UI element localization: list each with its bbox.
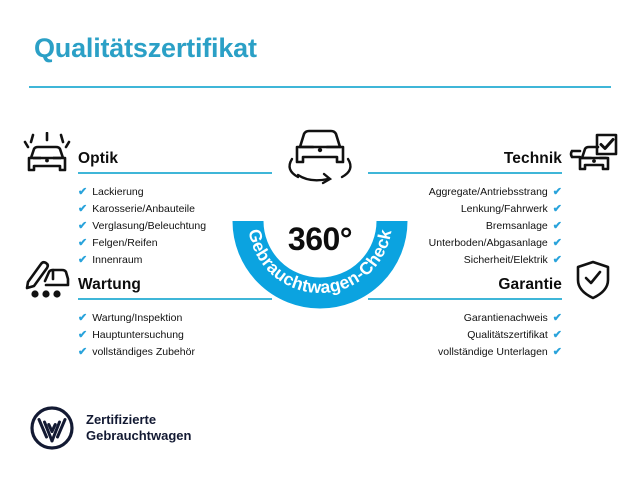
check-icon: ✔ (78, 330, 87, 341)
list-item-label: Felgen/Reifen (92, 235, 157, 252)
list-item: ✔vollständiges Zubehör (78, 344, 272, 361)
list-item-label: vollständiges Zubehör (92, 344, 195, 361)
check-icon: ✔ (78, 313, 87, 324)
check-icon: ✔ (553, 238, 562, 249)
check-icon: ✔ (78, 238, 87, 249)
section-title: Optik (78, 150, 118, 168)
list-item: Qualitätszertifikat✔ (368, 327, 562, 344)
footer-logo-block: Zertifizierte Gebrauchtwagen (30, 406, 191, 450)
list-item-label: Wartung/Inspektion (92, 310, 182, 327)
checklist: Garantienachweis✔ Qualitätszertifikat✔ v… (368, 310, 618, 361)
list-item: ✔Hauptuntersuchung (78, 327, 272, 344)
list-item-label: Hauptuntersuchung (92, 327, 184, 344)
pen-car-service-icon (22, 258, 72, 302)
list-item-label: Lackierung (92, 184, 143, 201)
check-icon: ✔ (78, 204, 87, 215)
header-divider (29, 86, 611, 88)
list-item-label: Bremsanlage (486, 218, 548, 235)
list-item-label: Garantienachweis (464, 310, 548, 327)
car-rotate-icon (290, 131, 351, 183)
list-item-label: Aggregate/Antriebsstrang (429, 184, 548, 201)
list-item-label: Unterboden/Abgasanlage (429, 235, 548, 252)
list-item-label: Qualitätszertifikat (467, 327, 548, 344)
badge-degrees: 360° (228, 221, 412, 258)
certificate-page: Qualitätszertifikat (0, 0, 640, 480)
check-icon: ✔ (553, 313, 562, 324)
list-item-label: vollständige Unterlagen (438, 344, 548, 361)
shield-check-icon (568, 258, 618, 302)
section-title: Garantie (498, 276, 562, 294)
check-icon: ✔ (553, 347, 562, 358)
section-title: Wartung (78, 276, 141, 294)
list-item-label: Lenkung/Fahrwerk (461, 201, 548, 218)
check-icon: ✔ (553, 187, 562, 198)
vw-logo (30, 406, 74, 450)
list-item-label: Verglasung/Beleuchtung (92, 218, 206, 235)
section-title: Technik (504, 150, 562, 168)
check-icon: ✔ (78, 221, 87, 232)
check-icon: ✔ (553, 330, 562, 341)
footer-line-1: Zertifizierte (86, 412, 191, 428)
check-icon: ✔ (553, 221, 562, 232)
check-icon: ✔ (78, 347, 87, 358)
badge-360-gebrauchtwagen-check: Gebrauchtwagen-Check 360° (228, 115, 412, 313)
check-icon: ✔ (78, 187, 87, 198)
footer-line-2: Gebrauchtwagen (86, 428, 191, 444)
list-item-label: Karosserie/Anbauteile (92, 201, 195, 218)
car-shine-icon (22, 132, 72, 176)
footer-text: Zertifizierte Gebrauchtwagen (86, 412, 191, 444)
page-title: Qualitätszertifikat (34, 33, 257, 64)
check-icon: ✔ (553, 204, 562, 215)
list-item: vollständige Unterlagen✔ (368, 344, 562, 361)
checklist: ✔Wartung/Inspektion ✔Hauptuntersuchung ✔… (22, 310, 272, 361)
car-checkbox-icon (568, 132, 618, 176)
